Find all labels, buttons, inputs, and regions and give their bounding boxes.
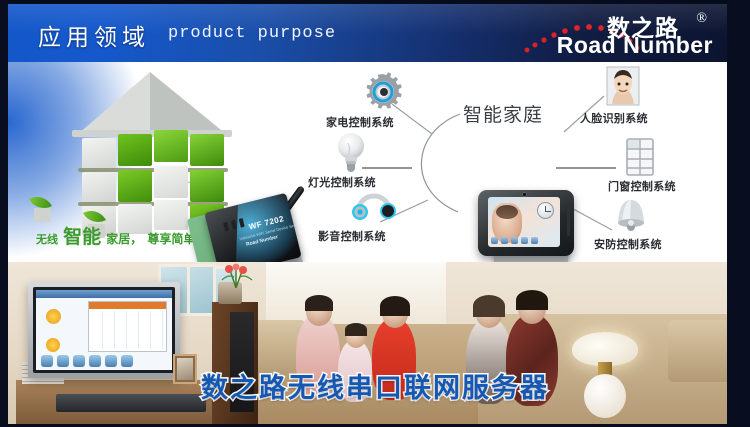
tagline-part-1: 无线 — [36, 233, 58, 246]
app-icon[interactable] — [531, 237, 538, 244]
photo-person-hair — [380, 296, 410, 316]
house-cube — [154, 166, 188, 198]
photo-person-hair — [345, 323, 367, 336]
tv-ui-sun-icon — [46, 309, 61, 324]
tagline-part-3: 家居， — [106, 232, 142, 246]
house-cube — [118, 170, 152, 202]
photo-television — [28, 282, 180, 378]
photo-person-hair — [516, 290, 548, 310]
gear-icon — [363, 72, 403, 112]
roof-left — [78, 72, 150, 134]
lightbulb-icon — [334, 130, 368, 174]
lamp-shade — [572, 332, 638, 366]
tv-ui-calendar-header — [89, 302, 166, 309]
tv-smarthome-ui[interactable] — [36, 290, 172, 370]
window-icon — [626, 138, 654, 176]
roof-right — [150, 72, 226, 134]
tablet-body — [478, 190, 574, 256]
photo-caption: 数之路无线串口联网服务器 — [201, 366, 549, 405]
app-icon[interactable] — [511, 237, 518, 244]
photo-person-hair — [473, 295, 505, 317]
tv-ui-icon — [121, 355, 133, 367]
node-label-lighting: 灯光控制系统 — [308, 174, 376, 190]
app-icon[interactable] — [521, 237, 528, 244]
diagram-center-title: 智能家庭 — [463, 100, 543, 127]
logo-brand-en: Road Number — [557, 32, 713, 59]
serial-server-device: WF 7202 Industrial WiFi Serial Device Se… — [191, 180, 309, 262]
photo-speaker-tower — [212, 302, 258, 424]
app-icon[interactable] — [491, 237, 498, 244]
photo-bright-wall — [266, 262, 446, 326]
brand-logo: 数之路 ® Road Number — [527, 6, 713, 62]
face-recognition-icon — [606, 66, 640, 106]
frame-right-border — [727, 0, 750, 427]
clock-widget-icon[interactable] — [537, 202, 554, 219]
decorative-block — [34, 208, 51, 222]
headphones-icon — [352, 190, 396, 220]
node-label-audio-video: 影音控制系统 — [318, 228, 386, 244]
house-cube — [154, 130, 188, 162]
tv-ui-calendar — [88, 301, 167, 352]
control-tablet — [476, 188, 584, 262]
photo-picture-frame — [173, 354, 197, 384]
frame-left-border — [0, 0, 8, 427]
house-cube — [190, 134, 224, 166]
house-cube — [82, 172, 116, 204]
tv-bezel — [33, 287, 175, 373]
node-label-security: 安防控制系统 — [594, 236, 662, 252]
tv-ui-icon — [105, 355, 117, 367]
house-cube — [118, 134, 152, 166]
tv-ui-calendar-grid — [91, 311, 164, 349]
device-led — [231, 220, 237, 230]
speaker-grille — [567, 206, 570, 236]
tv-ui-icon — [73, 355, 85, 367]
diagram-panel: 无线 智能 家居， 尊享简单 快乐 生活! WF 7202 Industrial… — [8, 62, 727, 262]
page-subtitle: product purpose — [168, 24, 336, 43]
page-title: 应用领域 — [38, 18, 150, 52]
alarm-bell-icon — [614, 198, 648, 232]
node-label-door-window: 门窗控制系统 — [608, 178, 676, 194]
promo-banner: 应用领域 product purpose 数之路 ® Road Number — [0, 0, 750, 427]
tagline-part-2: 智能 — [63, 226, 101, 248]
photo-flowers — [208, 262, 264, 288]
tv-ui-icon — [89, 355, 101, 367]
tagline-part-4: 尊享简单 — [147, 232, 195, 246]
tv-ui-icon — [41, 355, 53, 367]
header-bar: 应用领域 product purpose 数之路 ® Road Number — [8, 4, 727, 62]
node-label-face-recognition: 人脸识别系统 — [580, 110, 648, 126]
photo-cushion — [668, 320, 727, 382]
node-label-home-appliance: 家电控制系统 — [326, 114, 394, 130]
lamp-base — [584, 374, 626, 418]
tv-ui-titlebar — [36, 290, 172, 298]
device-body: WF 7202 Industrial WiFi Serial Device Se… — [204, 193, 301, 262]
tv-ui-icon — [57, 355, 69, 367]
tv-ui-sun-icon — [46, 338, 60, 352]
tv-ui-icon-row — [41, 355, 133, 367]
app-icon[interactable] — [501, 237, 508, 244]
app-icon-row[interactable] — [491, 237, 538, 244]
photo-person-hair — [305, 295, 333, 311]
device-led — [223, 222, 229, 232]
photo-table-lamp — [568, 332, 642, 424]
registered-mark-icon: ® — [696, 11, 707, 27]
tablet-screen[interactable] — [488, 197, 560, 247]
house-cube — [82, 138, 116, 170]
frame-top-border — [0, 0, 750, 4]
